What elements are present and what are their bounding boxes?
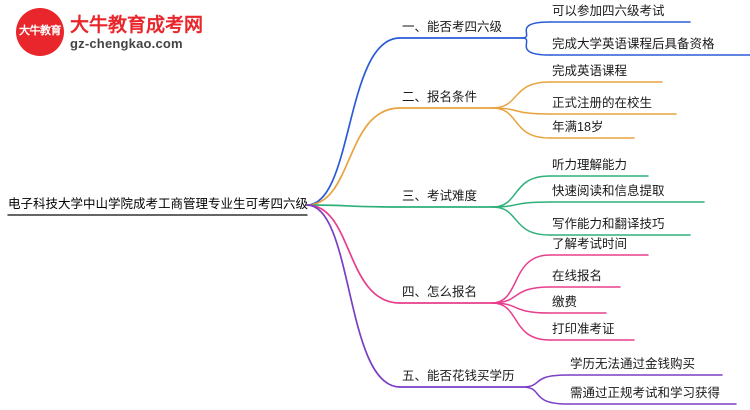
branch-label-1: 一、能否考四六级 (402, 20, 502, 35)
leaf-label-4-3: 缴费 (552, 295, 577, 310)
mindmap-root-label: 电子科技大学中山学院成考工商管理专业生可考四六级 (8, 197, 308, 212)
branch-label-5: 五、能否花钱买学历 (402, 369, 515, 384)
leaf-label-4-2: 在线报名 (552, 269, 602, 284)
leaf-label-3-1: 听力理解能力 (552, 158, 627, 173)
branch-label-3: 三、考试难度 (402, 189, 477, 204)
branch-label-2: 二、报名条件 (402, 90, 477, 105)
leaf-label-3-3: 写作能力和翻译技巧 (552, 217, 665, 232)
leaf-label-4-4: 打印准考证 (552, 322, 615, 337)
leaf-label-5-2: 需通过正规考试和学习获得 (570, 386, 720, 401)
leaf-label-3-2: 快速阅读和信息提取 (552, 184, 665, 199)
leaf-label-1-2: 完成大学英语课程后具备资格 (552, 37, 715, 52)
leaf-label-2-3: 年满18岁 (552, 120, 603, 135)
leaf-label-4-1: 了解考试时间 (552, 237, 627, 252)
leaf-label-5-1: 学历无法通过金钱购买 (570, 357, 695, 372)
leaf-label-2-2: 正式注册的在校生 (552, 96, 652, 111)
leaf-label-2-1: 完成英语课程 (552, 64, 627, 79)
leaf-label-1-1: 可以参加四六级考试 (552, 4, 665, 19)
branch-label-4: 四、怎么报名 (402, 285, 477, 300)
